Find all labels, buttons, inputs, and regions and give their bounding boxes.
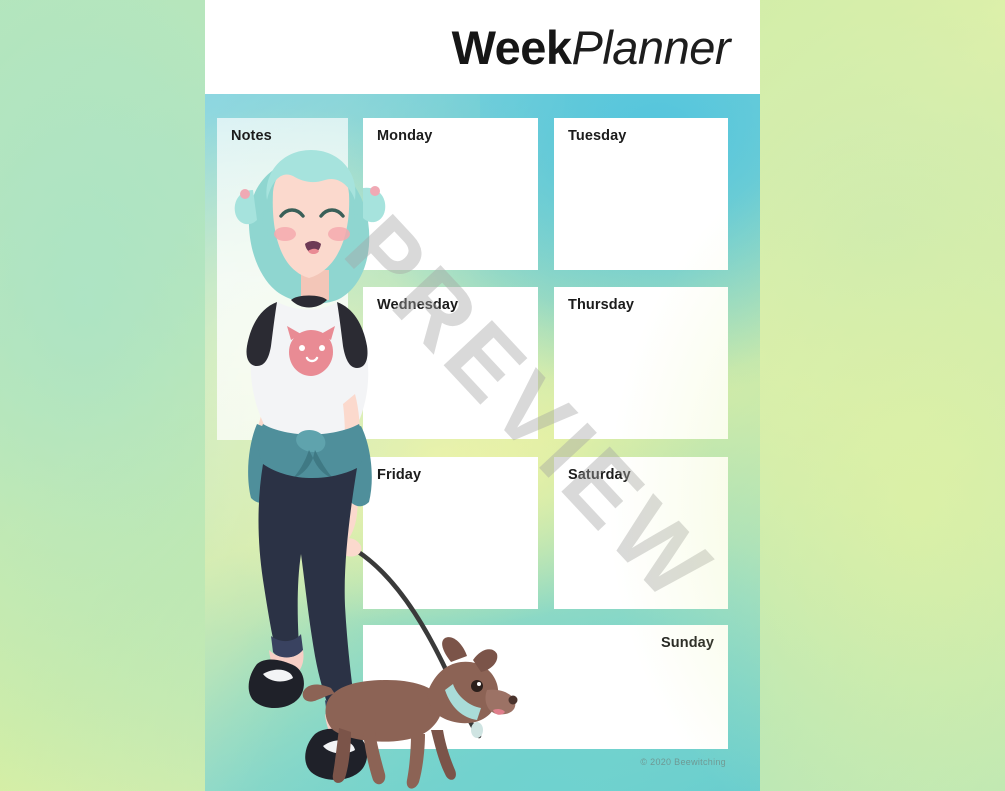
notes-label: Notes bbox=[231, 128, 334, 144]
day-box-friday[interactable]: Friday bbox=[363, 457, 538, 609]
day-label-friday: Friday bbox=[377, 467, 524, 483]
day-label-thursday: Thursday bbox=[568, 297, 714, 313]
title-week: Week bbox=[452, 21, 572, 74]
day-label-monday: Monday bbox=[377, 128, 524, 144]
page-canvas: WeekPlanner Notes Monday Tuesday Wednesd… bbox=[0, 0, 1005, 791]
title-planner: Planner bbox=[572, 21, 731, 74]
week-planner-poster: WeekPlanner Notes Monday Tuesday Wednesd… bbox=[205, 0, 760, 791]
day-label-tuesday: Tuesday bbox=[568, 128, 714, 144]
day-label-sunday: Sunday bbox=[377, 635, 714, 651]
day-box-saturday[interactable]: Saturday bbox=[554, 457, 728, 609]
poster-header: WeekPlanner bbox=[205, 0, 760, 94]
copyright-credit: © 2020 Beewitching bbox=[640, 757, 726, 767]
day-box-sunday[interactable]: Sunday bbox=[363, 625, 728, 749]
day-label-saturday: Saturday bbox=[568, 467, 714, 483]
notes-box[interactable]: Notes bbox=[217, 118, 348, 440]
page-title: WeekPlanner bbox=[452, 24, 730, 71]
day-box-tuesday[interactable]: Tuesday bbox=[554, 118, 728, 270]
poster-body: Notes Monday Tuesday Wednesday Thursday … bbox=[205, 94, 760, 791]
day-box-thursday[interactable]: Thursday bbox=[554, 287, 728, 439]
day-label-wednesday: Wednesday bbox=[377, 297, 524, 313]
day-box-monday[interactable]: Monday bbox=[363, 118, 538, 270]
day-box-wednesday[interactable]: Wednesday bbox=[363, 287, 538, 439]
